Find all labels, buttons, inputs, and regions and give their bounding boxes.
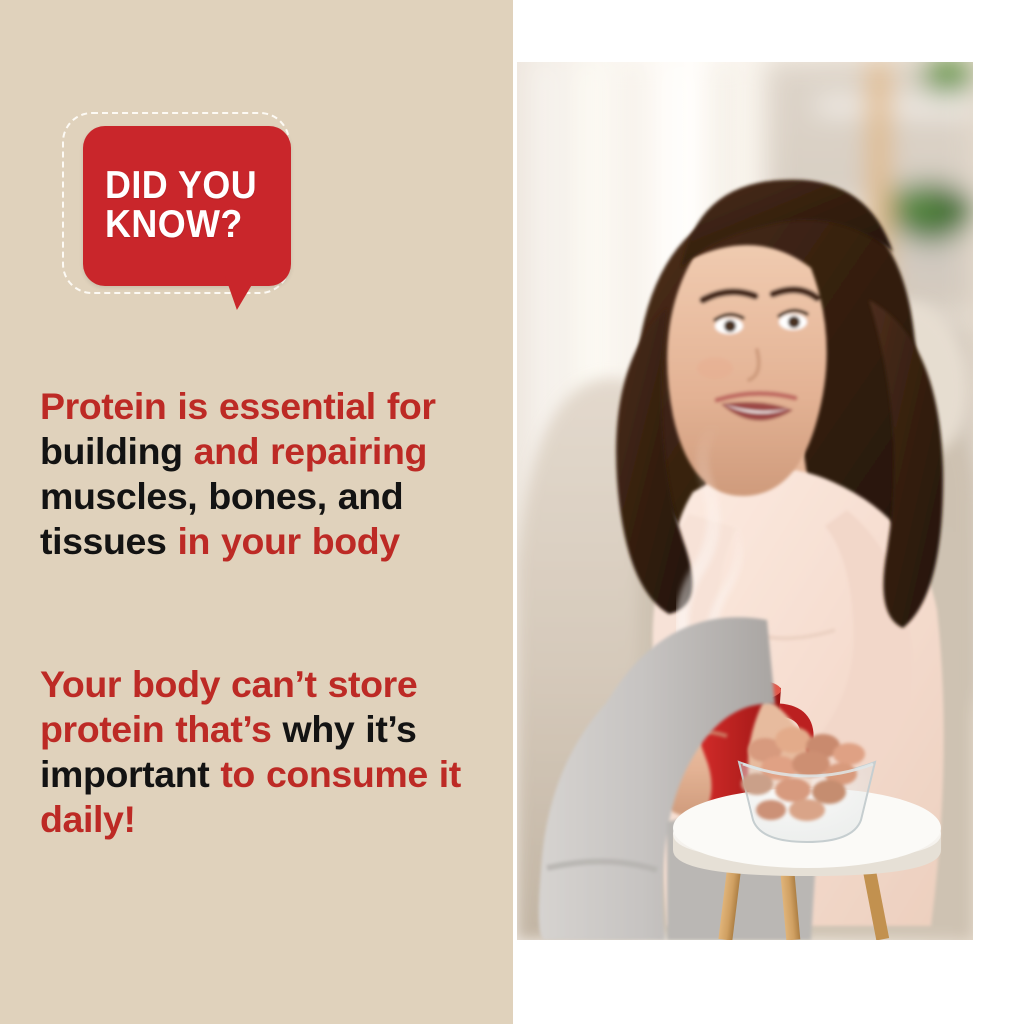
photo-illustration	[517, 62, 973, 940]
run-protein-is-essential: Protein is essential	[40, 385, 387, 427]
run-in-your-body: in your body	[177, 520, 399, 562]
bubble-text-group: DID YOU KNOW?	[83, 126, 291, 286]
bowl-of-nuts	[739, 727, 875, 842]
badge-line-1: DID YOU	[105, 167, 276, 206]
did-you-know-badge: DID YOU KNOW?	[60, 108, 305, 308]
poster-canvas: DID YOU KNOW? Protein is essential for b…	[0, 0, 1024, 1024]
run-repairing: repairing	[270, 430, 427, 472]
headline-paragraph-cant-store-protein: Your body can’t store protein that’s why…	[40, 662, 488, 842]
woman-with-coffee-mug-photo	[517, 62, 973, 940]
run-building: building	[40, 430, 194, 472]
headline-paragraph-protein-essential: Protein is essential for building and re…	[40, 384, 488, 564]
badge-line-2: KNOW?	[105, 206, 276, 245]
run-and: and	[194, 430, 271, 472]
run-for: for	[387, 385, 436, 427]
